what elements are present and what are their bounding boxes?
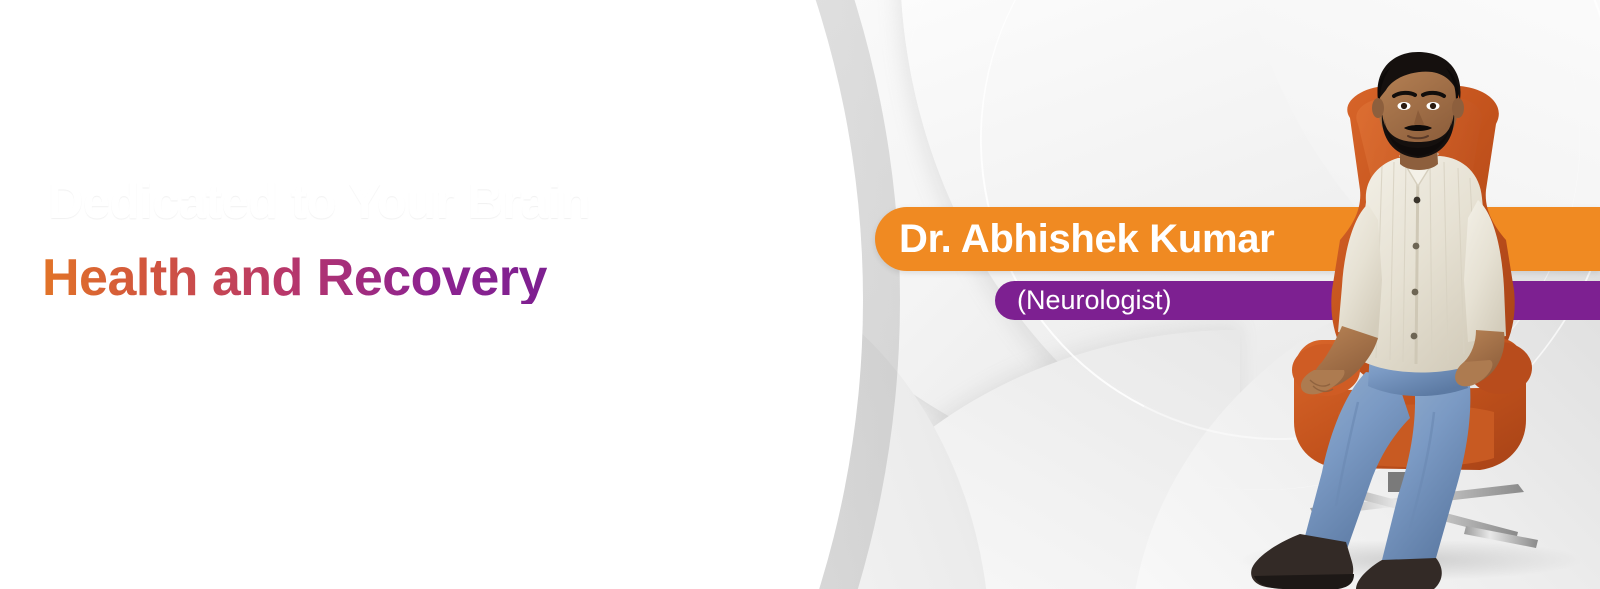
shirt-button-4 xyxy=(1411,333,1418,340)
shirt-sleeve-right xyxy=(1464,200,1506,342)
headline-line-1: Dedicated to Your Brain xyxy=(0,178,695,227)
shirt-button-3 xyxy=(1412,289,1419,296)
doctor-name-label: Dr. Abhishek Kumar xyxy=(875,217,1274,262)
shoe-right xyxy=(1356,558,1442,589)
promo-banner: Dedicated to Your Brain Health and Recov… xyxy=(0,0,1600,589)
headline-highlight-box: Health and Recovery xyxy=(0,243,695,313)
doctor-portrait xyxy=(1218,40,1600,589)
ear-right xyxy=(1452,98,1464,118)
headline-block: Dedicated to Your Brain Health and Recov… xyxy=(0,178,695,313)
eye-right-pupil xyxy=(1430,103,1436,109)
shoe-left-sole xyxy=(1254,574,1354,589)
shirt-sleeve-left xyxy=(1338,204,1382,340)
shirt-button-1 xyxy=(1414,197,1421,204)
doctor-role-label: (Neurologist) xyxy=(995,285,1172,316)
ear-left xyxy=(1372,98,1384,118)
shirt-button-2 xyxy=(1413,243,1420,250)
headline-line-2: Health and Recovery xyxy=(0,252,547,304)
doctor-portrait-illustration xyxy=(1218,40,1600,589)
eye-left-pupil xyxy=(1401,103,1407,109)
